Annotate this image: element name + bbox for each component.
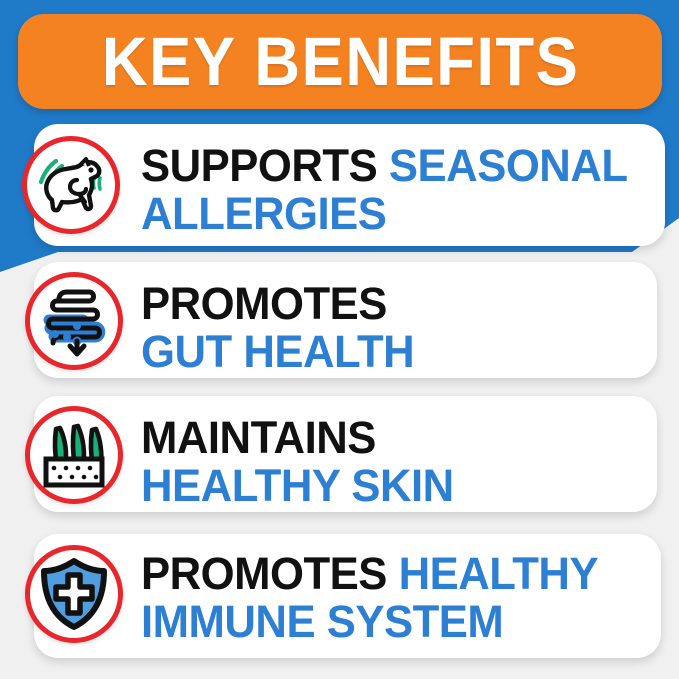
benefit-word-dark: MAINTAINS	[141, 412, 376, 463]
benefit-word-blue: IMMUNE SYSTEM	[141, 596, 503, 647]
benefit-word-blue: SEASONAL	[389, 140, 628, 191]
benefit-text-gut: PROMOTES GUT HEALTH	[141, 281, 423, 377]
shield-cross-immune-icon	[38, 557, 110, 631]
benefit-text-immune: PROMOTES HEALTHY IMMUNE SYSTEM	[141, 551, 612, 647]
benefit-word-blue: GUT HEALTH	[141, 326, 414, 377]
scratching-dog-icon	[33, 150, 109, 220]
benefit-word-blue: HEALTHY	[399, 548, 599, 599]
benefit-text-line: IMMUNE SYSTEM	[141, 599, 598, 644]
benefit-word-dark: PROMOTES	[141, 548, 387, 599]
benefit-text-line: GUT HEALTH	[141, 329, 414, 374]
skin-hair-follicle-icon	[38, 419, 110, 491]
benefit-text-line: PROMOTES	[141, 281, 414, 326]
benefit-text-line: SUPPORTS SEASONAL	[141, 143, 628, 188]
benefit-word-dark: SUPPORTS	[141, 140, 377, 191]
benefit-icon-badge-gut	[25, 272, 123, 370]
benefit-icon-badge-allergies	[22, 136, 120, 234]
key-benefits-header-banner: KEY BENEFITS	[18, 14, 662, 109]
page-title: KEY BENEFITS	[101, 27, 578, 96]
benefit-icon-badge-immune	[25, 545, 123, 643]
benefit-text-line: ALLERGIES	[141, 191, 628, 236]
benefit-word-dark: PROMOTES	[141, 278, 387, 329]
benefit-text-skin: MAINTAINS HEALTHY SKIN	[141, 415, 463, 511]
benefit-text-line: MAINTAINS	[141, 415, 454, 460]
intestine-gut-icon	[37, 284, 111, 358]
key-benefits-infographic: KEY BENEFITS	[0, 0, 679, 679]
benefit-word-blue: HEALTHY SKIN	[141, 460, 454, 511]
benefit-text-line: HEALTHY SKIN	[141, 463, 454, 508]
benefit-word-blue: ALLERGIES	[141, 188, 386, 239]
benefit-text-allergies: SUPPORTS SEASONAL ALLERGIES	[141, 143, 643, 239]
benefit-icon-badge-skin	[25, 406, 123, 504]
benefit-text-line: PROMOTES HEALTHY	[141, 551, 598, 596]
